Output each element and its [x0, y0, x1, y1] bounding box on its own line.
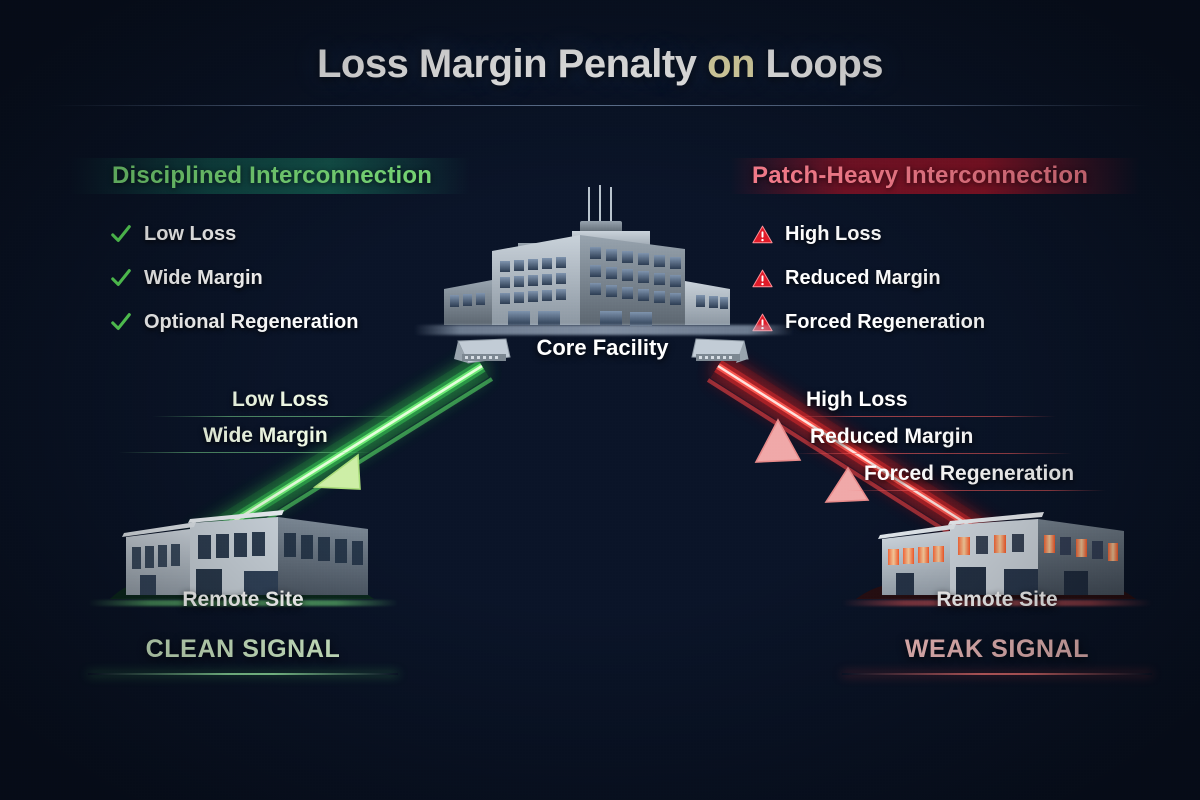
title-divider [50, 105, 1150, 106]
core-facility-building-icon [430, 185, 775, 335]
list-item: Low Loss [110, 212, 358, 256]
core-facility: Core Facility [430, 185, 775, 370]
remote-site-label: Remote Site [832, 588, 1162, 612]
green-beam-label-2: Wide Margin [203, 424, 328, 448]
right-column-header-label: Patch-Heavy Interconnection [752, 162, 1088, 190]
core-facility-ground-line [414, 325, 794, 335]
list-item-label: High Loss [785, 223, 882, 246]
list-item: High Loss [752, 212, 985, 256]
green-beam-label-rule-1 [152, 416, 407, 417]
title-part-1: Loss Margin Penalty [317, 42, 707, 86]
list-item: Forced Regeneration [752, 300, 985, 344]
infographic-canvas: Loss Margin Penalty on Loops Disciplined… [0, 0, 1200, 800]
page-title: Loss Margin Penalty on Loops [0, 42, 1200, 87]
check-icon [110, 311, 132, 333]
remote-site-left: Remote Site CLEAN SIGNAL [78, 495, 408, 615]
weak-signal-underline [842, 673, 1152, 675]
right-column-header: Patch-Heavy Interconnection [730, 158, 1140, 194]
background-texture [0, 0, 1200, 800]
red-beam-label-2: Reduced Margin [810, 425, 973, 449]
list-item-label: Reduced Margin [785, 267, 941, 290]
green-beam-label-1: Low Loss [232, 388, 329, 412]
red-beam-label-rule-2 [792, 453, 1072, 454]
left-column-header-label: Disciplined Interconnection [112, 162, 432, 190]
remote-site-label: Remote Site [78, 588, 408, 612]
green-beam-label-rule-2 [118, 452, 373, 453]
list-item-label: Forced Regeneration [785, 311, 985, 334]
list-item: Reduced Margin [752, 256, 985, 300]
check-icon [110, 223, 132, 245]
list-item: Wide Margin [110, 256, 358, 300]
check-icon [110, 267, 132, 289]
list-item: Optional Regeneration [110, 300, 358, 344]
list-item-label: Low Loss [144, 223, 236, 246]
red-beam-label-rule-3 [846, 490, 1106, 491]
background-vignette [0, 0, 1200, 800]
red-beam-label-rule-1 [786, 416, 1056, 417]
list-item-label: Optional Regeneration [144, 311, 358, 334]
left-benefit-list: Low Loss Wide Margin Optional Regenerati… [110, 212, 358, 344]
red-beam-label-1: High Loss [806, 388, 908, 412]
core-facility-label: Core Facility [430, 335, 775, 361]
title-part-2: Loops [755, 42, 883, 86]
red-beam-label-3: Forced Regeneration [864, 462, 1074, 486]
weak-signal-badge: WEAK SIGNAL [832, 635, 1162, 664]
title-highlight: on [707, 42, 755, 86]
clean-signal-badge: CLEAN SIGNAL [78, 635, 408, 664]
signal-beams [0, 0, 1200, 800]
red-beam-arrowhead-1 [756, 420, 800, 462]
clean-signal-underline [88, 673, 398, 675]
remote-site-right: Remote Site WEAK SIGNAL [832, 495, 1162, 615]
left-column-header: Disciplined Interconnection [70, 158, 470, 194]
list-item-label: Wide Margin [144, 267, 263, 290]
green-beam-arrowhead [315, 455, 360, 489]
